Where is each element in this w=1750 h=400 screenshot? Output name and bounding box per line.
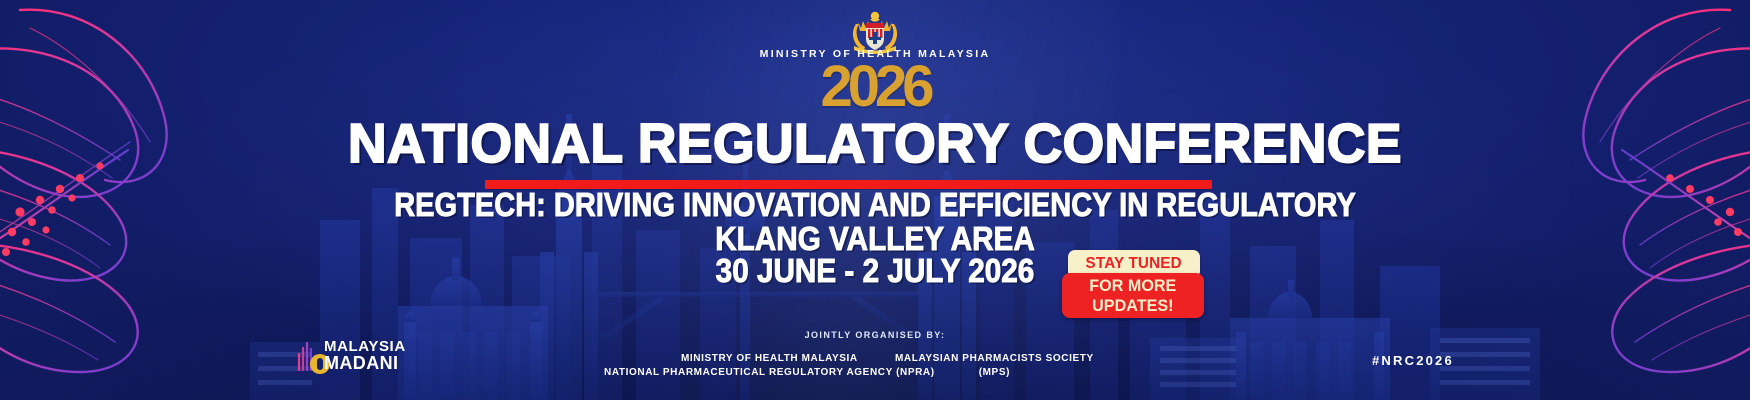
page-title: NATIONAL REGULATORY CONFERENCE (348, 114, 1402, 172)
organiser-moh: MINISTRY OF HEALTH MALAYSIA NATIONAL PHA… (604, 352, 935, 380)
organiser-mps: MALAYSIAN PHARMACISTS SOCIETY (MPS) (895, 352, 1094, 380)
badge-body: FOR MORE UPDATES! (1062, 273, 1204, 318)
banner-content: MINISTRY OF HEALTH MALAYSIA 2026 NATIONA… (0, 0, 1750, 400)
badge-line-1: STAY TUNED (1086, 255, 1182, 273)
conference-banner: MINISTRY OF HEALTH MALAYSIA 2026 NATIONA… (0, 0, 1750, 400)
stay-tuned-badge[interactable]: STAY TUNED FOR MORE UPDATES! (1062, 250, 1204, 318)
organiser-moh-line-1: MINISTRY OF HEALTH MALAYSIA (604, 352, 935, 366)
malaysia-madani-logo: MALAYSIA MADANI (296, 338, 406, 378)
organiser-mps-line-1: MALAYSIAN PHARMACISTS SOCIETY (895, 352, 1094, 366)
theme-line-2: KLANG VALLEY AREA (715, 222, 1035, 256)
jointly-organised-label: JOINTLY ORGANISED BY: (805, 330, 946, 340)
event-hashtag: #NRC2026 (1372, 353, 1454, 368)
organiser-moh-line-2: NATIONAL PHARMACEUTICAL REGULATORY AGENC… (604, 366, 935, 380)
organiser-mps-line-2: (MPS) (895, 366, 1094, 380)
badge-line-2: FOR MORE (1089, 276, 1176, 296)
madani-wordmark: MALAYSIA MADANI (324, 338, 406, 372)
event-dates: 30 JUNE - 2 JULY 2026 (716, 254, 1035, 288)
year-2026: 2026 (820, 58, 929, 116)
madani-line-2: MADANI (324, 355, 406, 372)
badge-line-3: UPDATES! (1092, 296, 1173, 316)
theme-line-1: REGTECH: DRIVING INNOVATION AND EFFICIEN… (394, 188, 1356, 222)
